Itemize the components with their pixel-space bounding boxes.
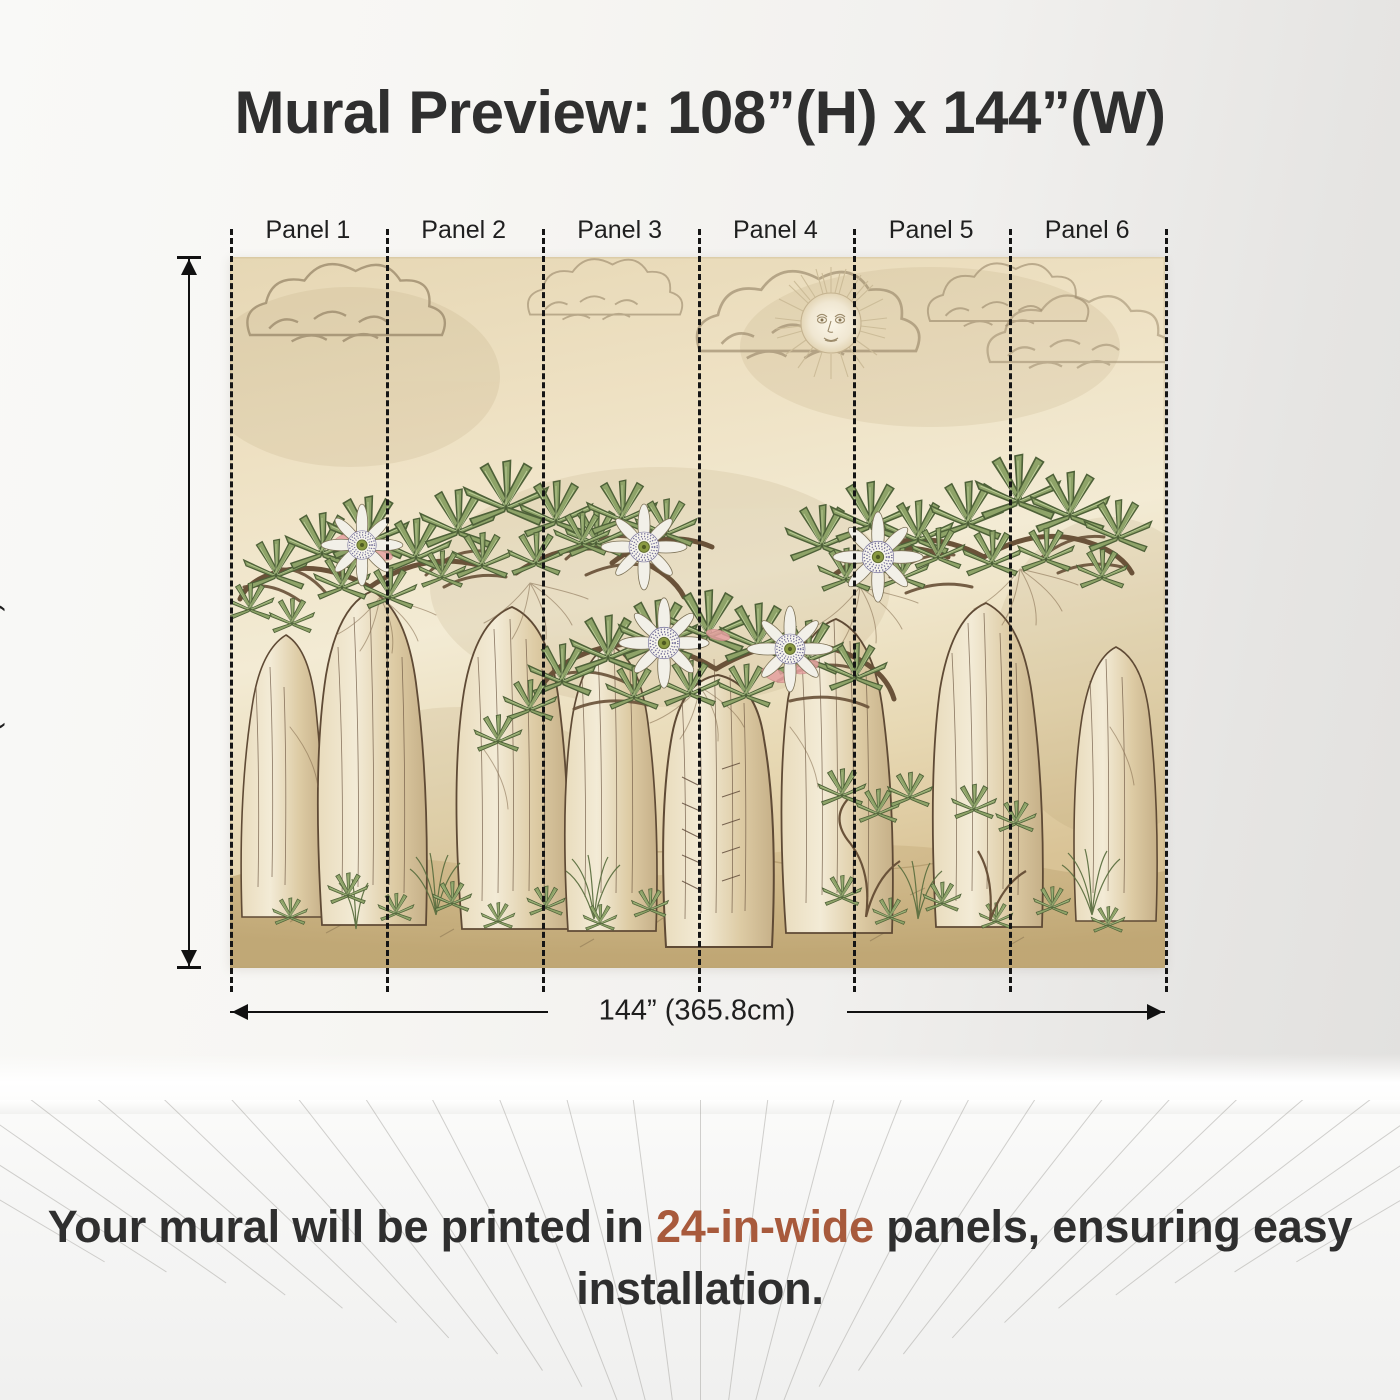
mural-edge-left — [230, 229, 233, 992]
height-arrow-up — [181, 259, 197, 275]
height-cap-bottom — [177, 966, 201, 969]
installation-caption: Your mural will be printed in 24-in-wide… — [0, 1196, 1400, 1320]
panel-divider-2-3 — [542, 229, 545, 992]
panel-label-5: Panel 5 — [853, 215, 1009, 245]
height-arrow-down — [181, 950, 197, 966]
panel-label-6: Panel 6 — [1009, 215, 1165, 245]
mural-edge-right — [1165, 229, 1168, 992]
caption-highlight: 24-in-wide — [656, 1201, 874, 1252]
panel-divider-3-4 — [698, 229, 701, 992]
height-dimension-label: 108” (274.3cm) — [0, 602, 7, 799]
width-line-right — [847, 1011, 1165, 1013]
panel-divider-5-6 — [1009, 229, 1012, 992]
width-dimension-label: 144” (365.8cm) — [585, 995, 810, 1028]
page-title: Mural Preview: 108”(H) x 144”(W) — [0, 78, 1400, 147]
panel-label-1: Panel 1 — [230, 215, 386, 245]
width-line-left — [230, 1011, 548, 1013]
panel-label-2: Panel 2 — [386, 215, 542, 245]
panel-divider-1-2 — [386, 229, 389, 992]
panel-label-4: Panel 4 — [698, 215, 854, 245]
width-arrow-right — [1147, 1004, 1163, 1020]
panel-divider-4-5 — [853, 229, 856, 992]
caption-lead: Your mural will be printed in — [48, 1201, 656, 1252]
mural-preview-container — [230, 257, 1165, 968]
height-dimension-line — [188, 257, 190, 968]
height-dimension — [188, 257, 190, 968]
panel-label-3: Panel 3 — [542, 215, 698, 245]
width-arrow-left — [232, 1004, 248, 1020]
